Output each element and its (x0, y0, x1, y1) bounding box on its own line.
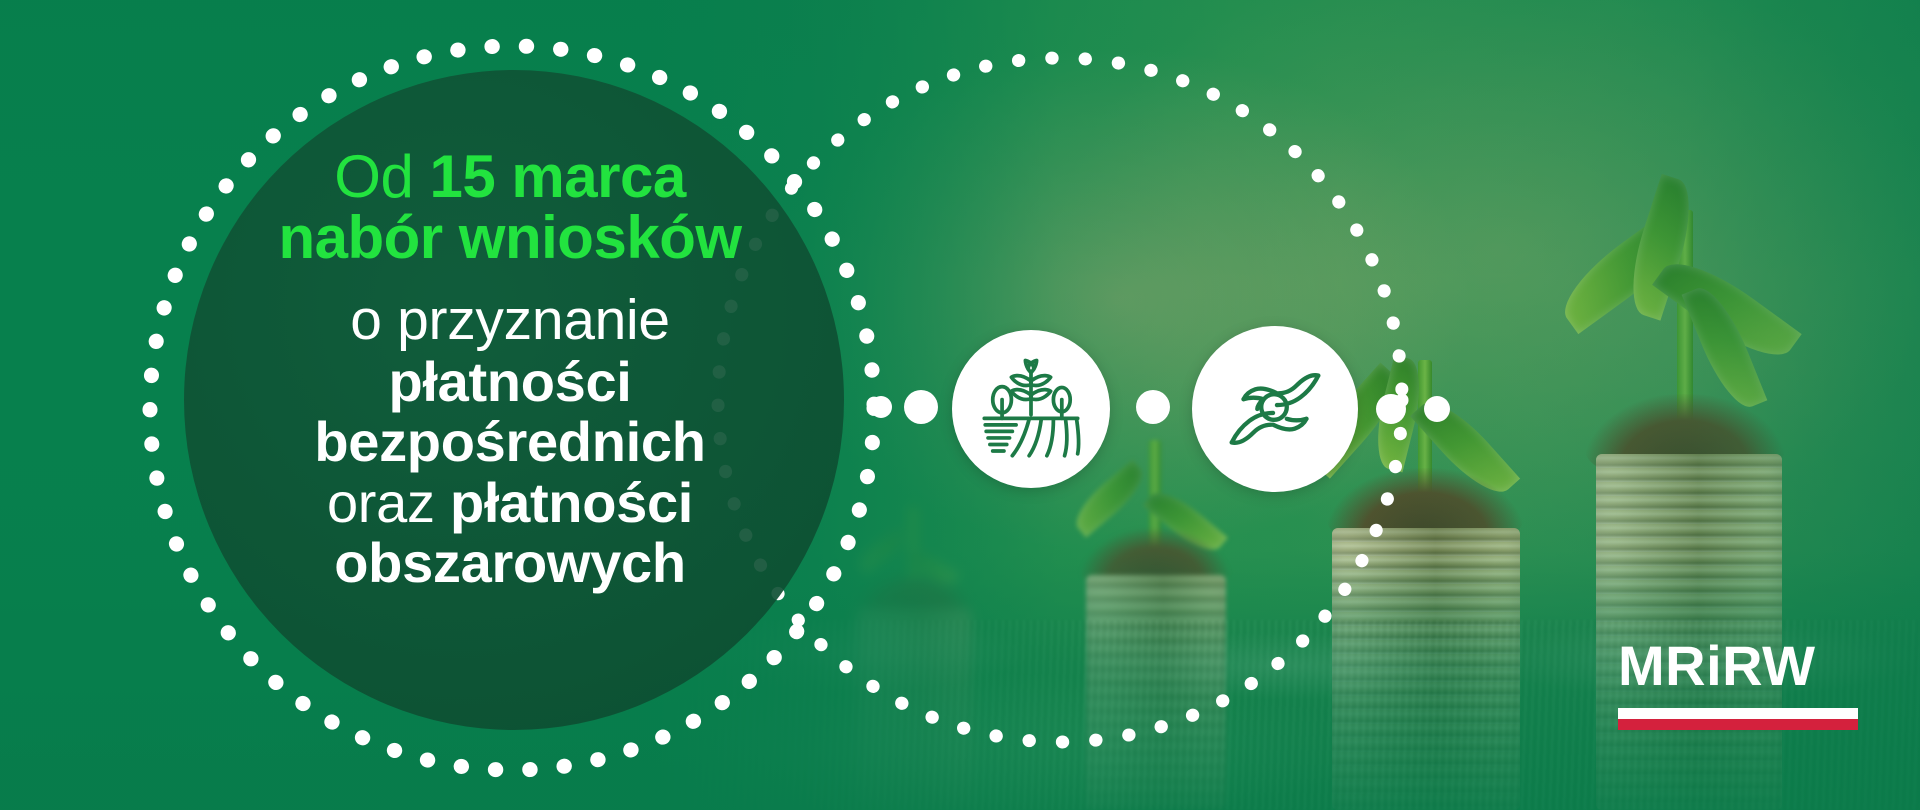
subhead-text-2: płatności (388, 350, 631, 413)
connector-dot-4 (1376, 394, 1406, 424)
headline-line-1: Od 15 marca (180, 146, 840, 207)
subhead-text-5: obszarowych (334, 531, 685, 594)
flag-stripe-white (1618, 708, 1858, 719)
headline-call: nabór wniosków (278, 204, 741, 271)
subhead-line-4: oraz płatności (180, 473, 840, 533)
subhead-text-3: bezpośrednich (314, 410, 705, 473)
banner-root: Od 15 marca nabór wniosków o przyznanie … (0, 0, 1920, 810)
headline-line-2: nabór wniosków (180, 207, 840, 268)
subhead-line-3: bezpośrednich (180, 412, 840, 472)
subhead-text-1: o przyznanie (350, 288, 670, 352)
headline-date: 15 marca (430, 143, 686, 210)
field-crops-icon[interactable] (952, 330, 1110, 488)
connector-dot-3 (1136, 390, 1170, 424)
subhead-block: o przyznanie płatności bezpośrednich ora… (180, 290, 840, 593)
flag-stripe-red (1618, 719, 1858, 730)
subhead-line-5: obszarowych (180, 533, 840, 593)
connector-dot-2 (904, 390, 938, 424)
headline-block: Od 15 marca nabór wniosków o przyznanie … (180, 146, 840, 594)
subhead-text-4a: oraz (327, 471, 450, 534)
connector-dot-5 (1424, 396, 1450, 422)
headline-prefix: Od (334, 143, 429, 210)
connector-dot-1 (870, 396, 892, 418)
subhead-text-4b: płatności (450, 471, 693, 534)
polish-flag-bar (1618, 708, 1858, 730)
subhead-line-1: o przyznanie (180, 290, 840, 352)
hands-coin-icon[interactable] (1192, 326, 1358, 492)
mrirw-logo[interactable]: MRiRW (1618, 638, 1858, 730)
mrirw-wordmark: MRiRW (1618, 638, 1858, 694)
subhead-line-2: płatności (180, 352, 840, 412)
